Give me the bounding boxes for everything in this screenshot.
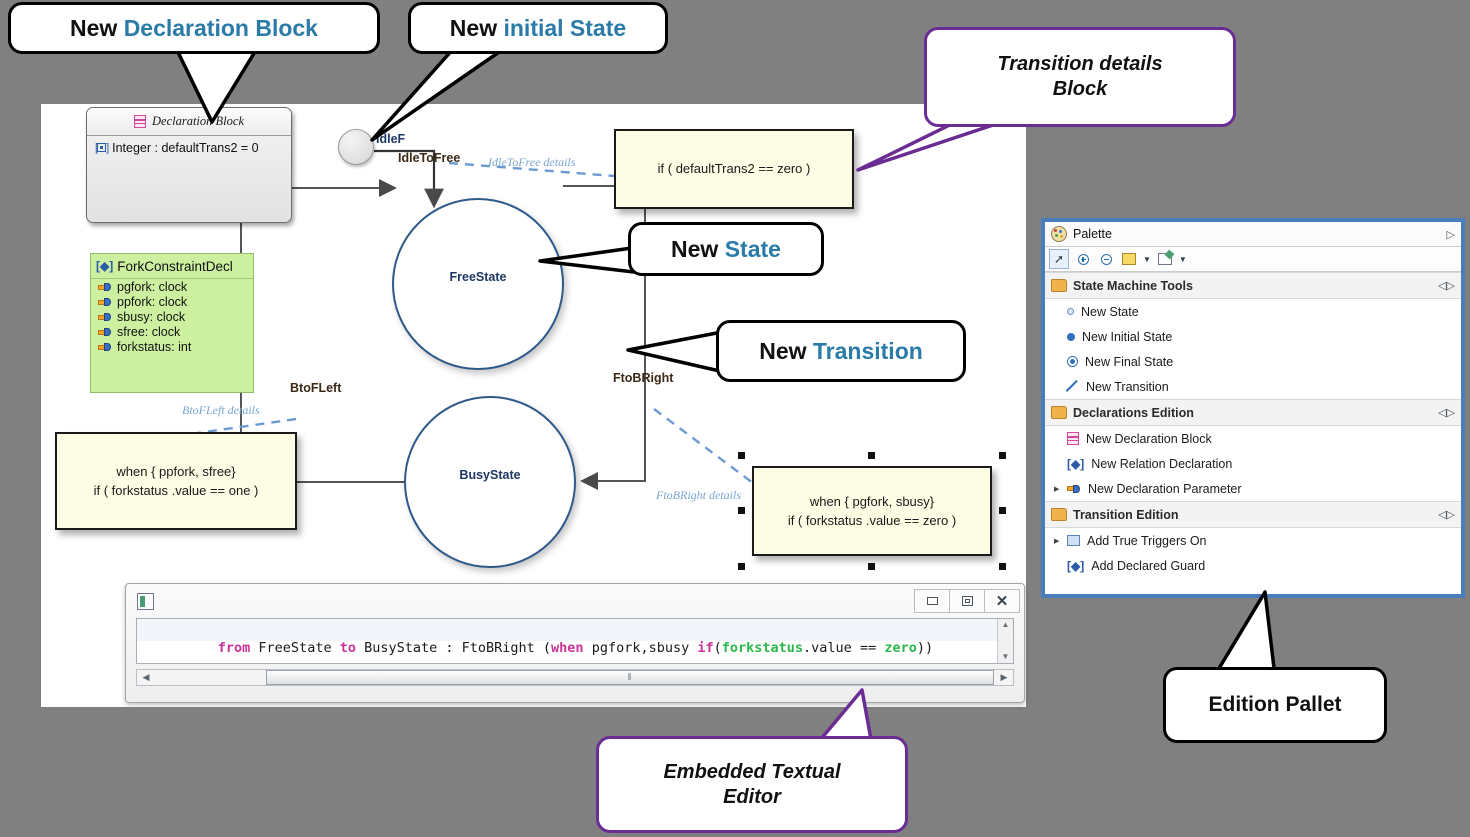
callout-transition-details-block: Transition details Block	[924, 27, 1236, 127]
callout-text: New State	[671, 236, 781, 263]
callout-text-plain: New	[450, 15, 504, 41]
callout-embedded-textual-editor: Embedded Textual Editor	[596, 736, 908, 833]
callout-edition-pallet: Edition Pallet	[1163, 667, 1387, 743]
callout-text: Edition Pallet	[1208, 693, 1341, 717]
callout-text: New Declaration Block	[70, 15, 318, 42]
callout-text: New Transition	[759, 338, 923, 365]
callout-text-accent: State	[725, 236, 781, 262]
callout-new-transition: New Transition	[716, 320, 966, 382]
callout-text-accent: Transition	[813, 338, 923, 364]
callout-text-plain: New	[671, 236, 725, 262]
callout-text-plain: New	[759, 338, 813, 364]
callout-new-initial-state: New initial State	[408, 2, 668, 54]
callout-text-accent: Declaration Block	[124, 15, 318, 41]
callout-text-plain: New	[70, 15, 124, 41]
callout-new-declaration-block: New Declaration Block	[8, 2, 380, 54]
callout-text: New initial State	[450, 15, 626, 42]
callout-text-accent: initial State	[503, 15, 626, 41]
callout-text: Transition details Block	[997, 52, 1162, 102]
callout-text: Embedded Textual Editor	[663, 760, 840, 810]
callout-new-state: New State	[628, 222, 824, 276]
